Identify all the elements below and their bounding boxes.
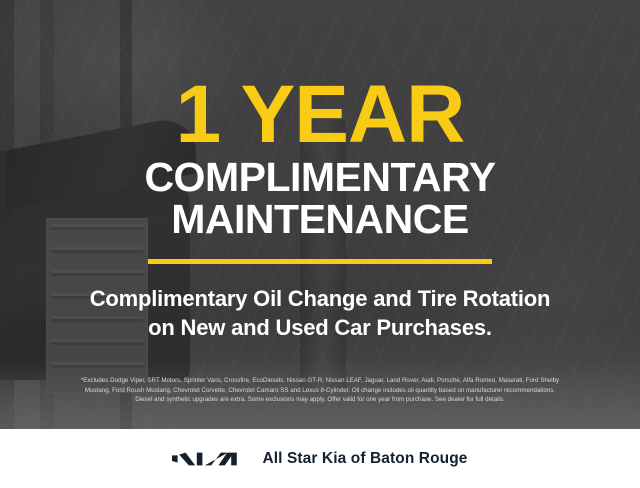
kia-logo-icon — [172, 449, 244, 469]
footer-bar: All Star Kia of Baton Rouge — [0, 429, 640, 488]
kia-logo — [172, 449, 244, 469]
disclaimer-text: *Excludes Dodge Viper, SRT Motors, Sprin… — [12, 376, 628, 405]
headline-maintenance: MAINTENANCE — [171, 199, 468, 241]
headline-year: 1 YEAR — [176, 79, 465, 151]
disclaimer-line-2: Mustang, Ford Roush Mustang, Chevrolet C… — [12, 386, 628, 396]
offer-description: Complimentary Oil Change and Tire Rotati… — [90, 284, 551, 342]
dealer-name: All Star Kia of Baton Rouge — [262, 450, 467, 468]
offer-line-1: Complimentary Oil Change and Tire Rotati… — [90, 284, 551, 313]
yellow-divider-bar — [148, 259, 492, 264]
offer-line-2: on New and Used Car Purchases. — [90, 313, 551, 342]
hero-content: 1 YEAR COMPLIMENTARY MAINTENANCE Complim… — [0, 0, 640, 429]
promo-banner: 1 YEAR COMPLIMENTARY MAINTENANCE Complim… — [0, 0, 640, 488]
hero-section: 1 YEAR COMPLIMENTARY MAINTENANCE Complim… — [0, 0, 640, 429]
disclaimer-line-3: Diesel and synthetic upgrades are extra.… — [12, 395, 628, 405]
headline-complimentary: COMPLIMENTARY — [144, 157, 495, 199]
disclaimer-line-1: *Excludes Dodge Viper, SRT Motors, Sprin… — [12, 376, 628, 386]
